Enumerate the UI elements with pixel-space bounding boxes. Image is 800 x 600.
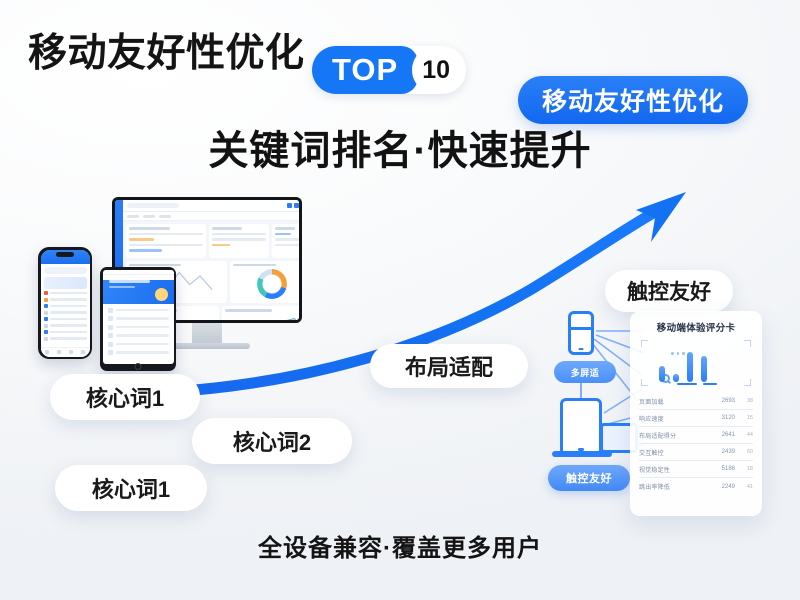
layout-adapt-pill[interactable]: 布局适配 — [370, 344, 528, 388]
row-delta: 44 — [735, 432, 753, 438]
connector-stem — [580, 383, 582, 399]
row-name: 视觉稳定性 — [639, 465, 709, 474]
phone-tabbar — [41, 347, 90, 357]
tablet-hero-banner — [103, 280, 174, 304]
mini-phone-icon — [568, 311, 594, 355]
row-name: 响应速度 — [639, 414, 709, 423]
page-title: 移动友好性优化 — [28, 26, 305, 82]
row-delta: 60 — [735, 449, 753, 455]
page-subtitle: 关键词排名·快速提升 — [0, 118, 800, 176]
dashboard-topbar — [123, 200, 299, 212]
row-value: 2693 — [709, 398, 735, 404]
row-value: 2249 — [709, 484, 735, 490]
table-row: 视觉稳定性 5186 18 — [639, 461, 753, 478]
device-mockup-group — [24, 185, 344, 385]
top-rank-badge: TOP 10 — [312, 46, 466, 94]
smartphone-mockup — [38, 247, 92, 359]
header-row: 移动友好性优化 TOP 10 移动友好性优化 — [0, 26, 800, 88]
chart-bars — [659, 352, 707, 382]
wave-chart-icon — [225, 315, 299, 321]
score-card-panel: 移动端体验评分卡 页面加载 2693 38 响应速度 312 — [630, 311, 762, 516]
top-badge-number: 10 — [412, 46, 460, 94]
table-row: 响应速度 3120 15 — [639, 410, 753, 427]
footer-tagline: 全设备兼容·覆盖更多用户 — [0, 528, 800, 563]
header-accent-pill: 移动友好性优化 — [518, 76, 748, 124]
keyword-pill-3[interactable]: 核心词1 — [55, 465, 207, 511]
table-row: 页面加载 2693 38 — [639, 393, 753, 410]
table-row: 跳出率降低 2249 41 — [639, 478, 753, 495]
row-value: 3120 — [709, 415, 735, 421]
table-row: 布局适配得分 2641 44 — [639, 427, 753, 444]
mobile-score-cluster: 多屏适 触控友好 移动端体验评分卡 页面加载 2693 38 — [546, 305, 766, 520]
phone-notch — [56, 252, 74, 257]
row-name: 跳出率降低 — [639, 482, 709, 491]
keyword-pill-2[interactable]: 核心词2 — [192, 418, 352, 464]
row-value: 2641 — [709, 432, 735, 438]
mini-tablet-icon — [560, 398, 602, 456]
phone-search-bar — [44, 267, 87, 274]
table-row: 交互触控 2439 60 — [639, 444, 753, 461]
row-delta: 18 — [735, 466, 753, 472]
score-card-chart — [641, 340, 751, 386]
monitor-stand-neck — [192, 323, 222, 343]
multi-screen-pill[interactable]: 多屏适 — [554, 361, 616, 383]
row-name: 布局适配得分 — [639, 431, 709, 440]
score-card-table: 页面加载 2693 38 响应速度 3120 15 布局适配得分 2641 44… — [639, 393, 753, 495]
top-badge-label: TOP — [332, 52, 398, 88]
monitor-stand-base — [164, 343, 250, 349]
row-delta: 41 — [735, 484, 753, 490]
tablet-mockup — [100, 267, 176, 371]
keyword-pill-1[interactable]: 核心词1 — [50, 374, 200, 420]
donut-chart-icon — [257, 269, 287, 299]
header-accent-pill-label: 移动友好性优化 — [542, 82, 724, 118]
tablet-home-button — [135, 363, 142, 370]
mini-laptop-base — [552, 451, 612, 457]
touch-friendly-mini-pill[interactable]: 触控友好 — [548, 465, 630, 491]
dashboard-cards-row1 — [123, 221, 299, 261]
row-delta: 15 — [735, 415, 753, 421]
row-name: 页面加载 — [639, 397, 709, 406]
row-name: 交互触控 — [639, 448, 709, 457]
row-delta: 38 — [735, 398, 753, 404]
dashboard-tabs — [123, 212, 299, 221]
phone-banner — [44, 277, 87, 289]
top-badge-label-wrap: TOP — [312, 46, 418, 94]
row-value: 2439 — [709, 449, 735, 455]
row-value: 5186 — [709, 466, 735, 472]
score-card-title: 移动端体验评分卡 — [639, 320, 753, 334]
